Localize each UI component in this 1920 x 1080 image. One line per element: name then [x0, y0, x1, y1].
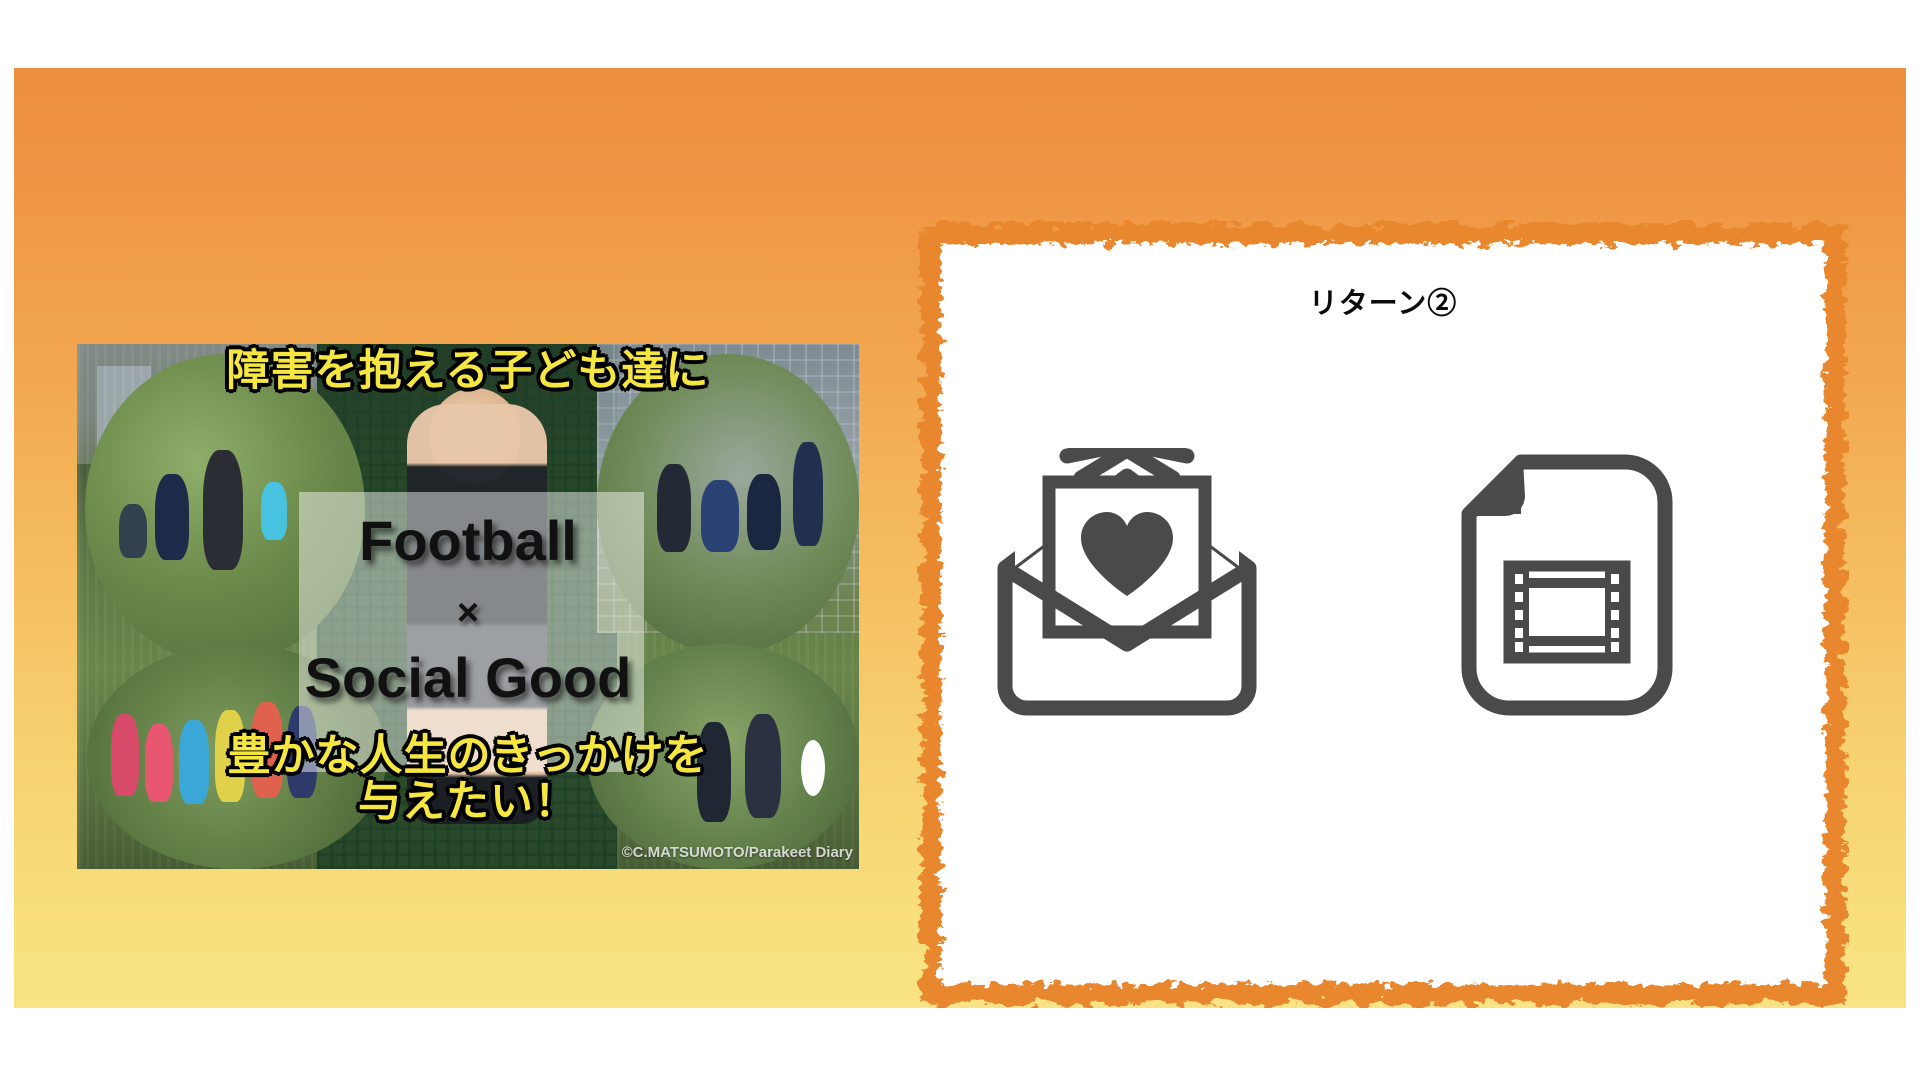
photo-center-line-1: Football — [77, 512, 859, 569]
photo-center-line-2: × — [77, 594, 859, 633]
card-icon-row — [917, 448, 1849, 748]
return-card: リターン② — [917, 220, 1849, 1008]
photo-headline-bottom: 豊かな人生のきっかけを 与えたい！ — [77, 734, 859, 825]
photo-center-line-3: Social Good — [77, 649, 859, 706]
card-title: リターン② — [917, 280, 1849, 322]
letter-with-heart-icon — [977, 448, 1277, 738]
photo-watermark: ©C.MATSUMOTO/Parakeet Diary — [622, 844, 853, 861]
video-file-icon — [1417, 448, 1717, 738]
slide-root: 障害を抱える子ども達に Football × Social Good 豊かな人生… — [0, 0, 1920, 1080]
crowdfunding-hero-photo: 障害を抱える子ども達に Football × Social Good 豊かな人生… — [77, 344, 859, 869]
orange-gradient-panel: 障害を抱える子ども達に Football × Social Good 豊かな人生… — [14, 68, 1906, 1008]
photo-headline-top: 障害を抱える子ども達に — [77, 350, 859, 394]
